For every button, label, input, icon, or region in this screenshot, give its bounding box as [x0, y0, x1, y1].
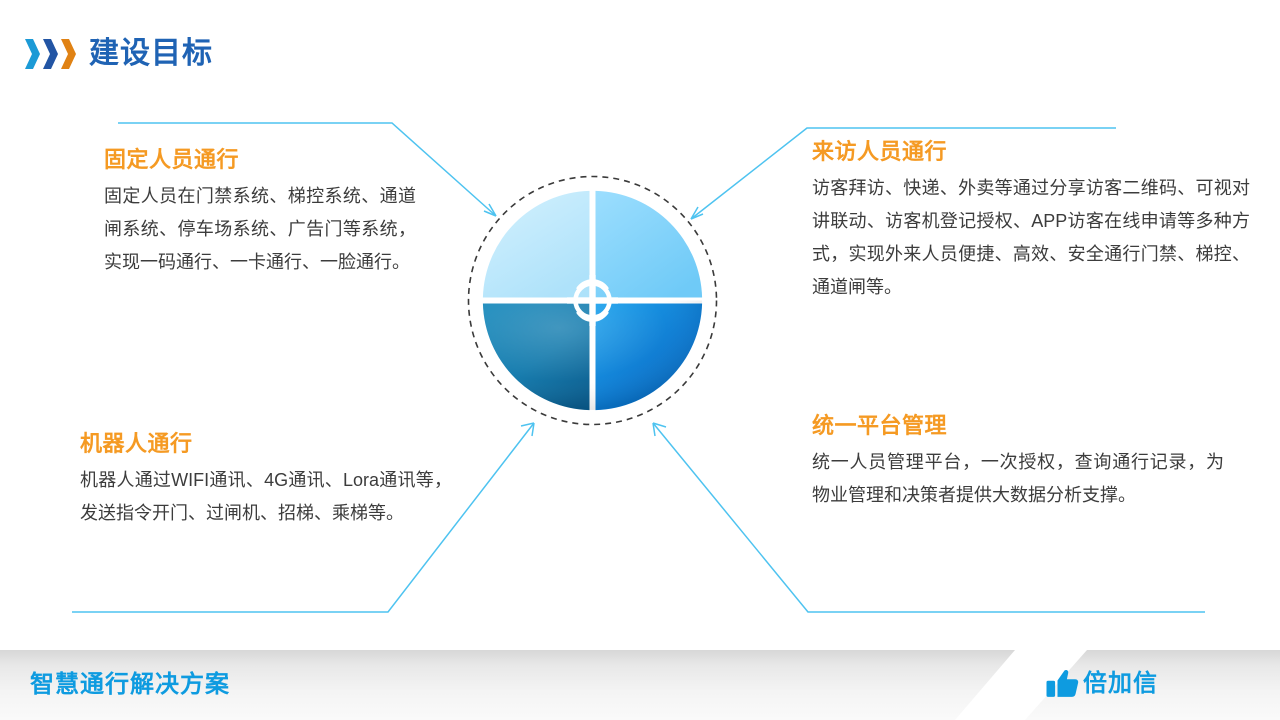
chevron-right-icon-3 [60, 37, 77, 71]
chevron-group [24, 37, 77, 71]
center-axis-gap-h [567, 297, 618, 303]
quadrant-top-left [483, 191, 590, 301]
block-body-robot-passage: 机器人通过WIFI通讯、4G通讯、Lora通讯等，发送指令开门、过闸机、招梯、乘… [80, 464, 452, 530]
block-heading-fixed-personnel: 固定人员通行 [104, 146, 416, 174]
block-heading-unified-platform: 统一平台管理 [812, 412, 1224, 440]
page-title: 建设目标 [24, 28, 213, 80]
info-block-fixed-personnel: 固定人员通行 固定人员在门禁系统、梯控系统、通道闸系统、停车场系统、广告门等系统… [104, 146, 416, 279]
footer-right-panel: 倍加信 [1025, 650, 1280, 720]
page-title-text: 建设目标 [89, 37, 213, 71]
info-block-robot-passage: 机器人通行 机器人通过WIFI通讯、4G通讯、Lora通讯等，发送指令开门、过闸… [80, 430, 452, 530]
block-heading-visitor-personnel: 来访人员通行 [812, 138, 1250, 166]
chevron-right-icon-1 [24, 37, 41, 71]
block-body-fixed-personnel: 固定人员在门禁系统、梯控系统、通道闸系统、停车场系统、广告门等系统，实现一码通行… [104, 180, 416, 279]
block-body-unified-platform: 统一人员管理平台，一次授权，查询通行记录，为物业管理和决策者提供大数据分析支撑。 [812, 446, 1224, 512]
footer-left-label: 智慧通行解决方案 [30, 670, 230, 700]
block-heading-robot-passage: 机器人通行 [80, 430, 452, 458]
slide-root: 建设目标 [0, 0, 1280, 720]
quadrant-top-right [596, 191, 703, 301]
footer-bar: 智慧通行解决方案 倍加信 [0, 650, 1280, 720]
block-body-visitor-personnel: 访客拜访、快递、外卖等通过分享访客二维码、可视对讲联动、访客机登记授权、APP访… [812, 172, 1250, 304]
footer-right-label: 倍加信 [1083, 669, 1158, 699]
thumbs-up-icon [1045, 668, 1079, 700]
quadrant-circle-diagram [455, 163, 730, 438]
chevron-right-icon-2 [42, 37, 59, 71]
info-block-visitor-personnel: 来访人员通行 访客拜访、快递、外卖等通过分享访客二维码、可视对讲联动、访客机登记… [812, 138, 1250, 304]
info-block-unified-platform: 统一平台管理 统一人员管理平台，一次授权，查询通行记录，为物业管理和决策者提供大… [812, 412, 1224, 512]
footer-left-panel: 智慧通行解决方案 [0, 650, 1015, 720]
